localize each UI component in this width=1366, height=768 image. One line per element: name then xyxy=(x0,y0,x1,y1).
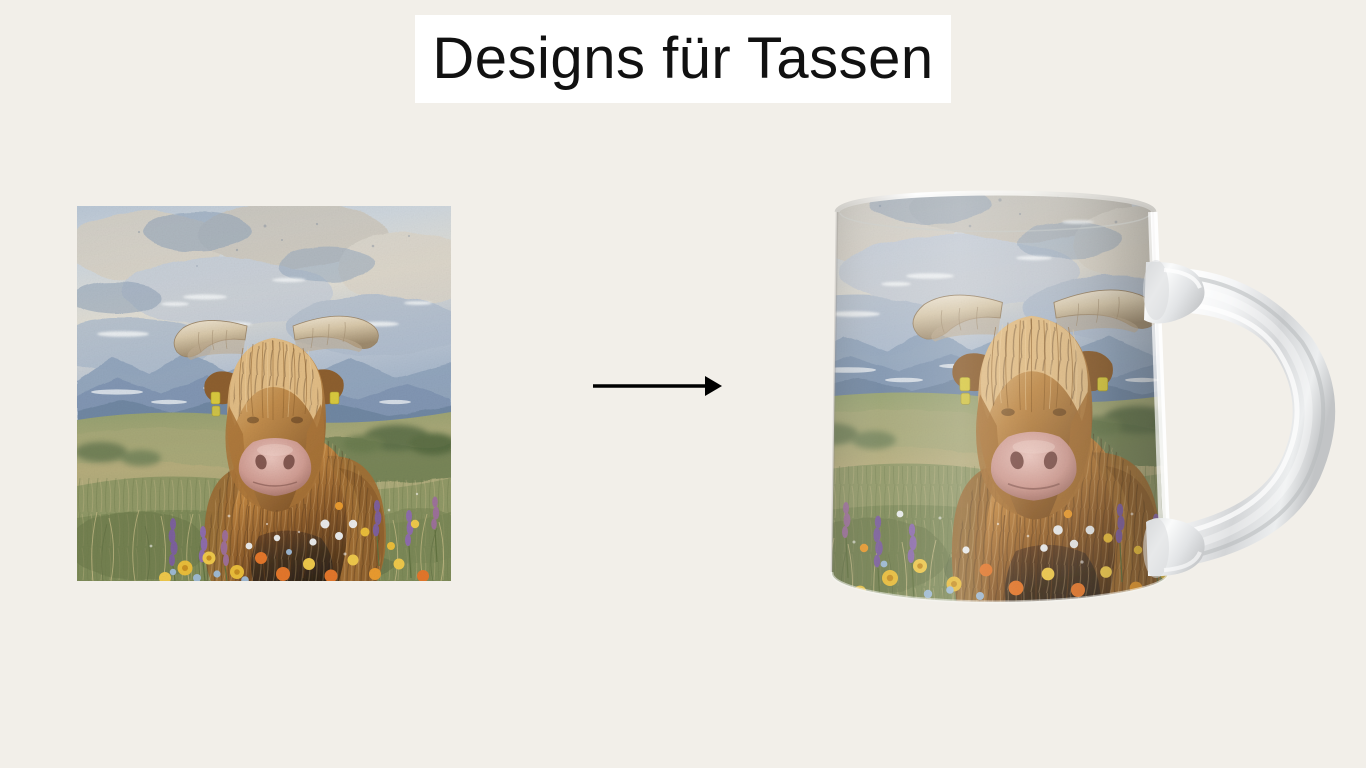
highland-cow-artwork-svg xyxy=(77,206,451,581)
design-source-image[interactable] xyxy=(77,206,451,581)
slide-canvas: Designs für Tassen xyxy=(0,0,1366,768)
transform-arrow xyxy=(585,360,730,412)
title-band: Designs für Tassen xyxy=(415,15,951,103)
right-arrow-icon xyxy=(585,360,730,412)
page-title: Designs für Tassen xyxy=(432,30,933,88)
mug-mockup-svg xyxy=(820,178,1350,618)
mug-mockup-image[interactable] xyxy=(820,178,1350,618)
